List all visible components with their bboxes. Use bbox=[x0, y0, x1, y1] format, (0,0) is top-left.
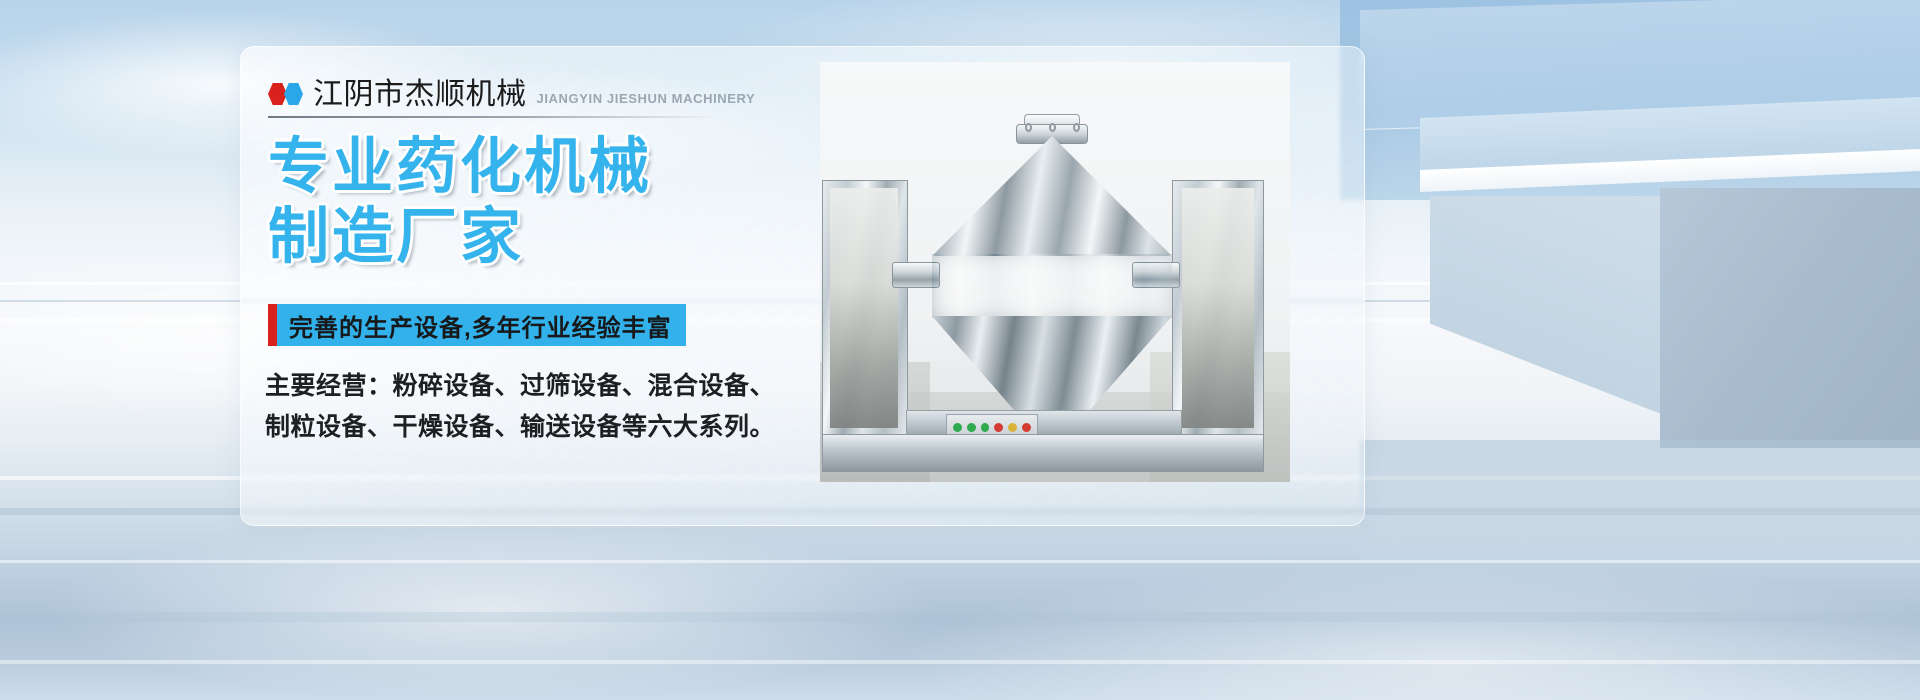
product-photo bbox=[820, 62, 1290, 482]
business-scope-line-1: 主要经营：粉碎设备、过筛设备、混合设备、 bbox=[265, 366, 785, 407]
promotional-banner: 江阴市杰顺机械 JIANGYIN JIESHUN MACHINERY 专业药化机… bbox=[0, 0, 1920, 700]
highlight-bar: 完善的生产设备,多年行业经验丰富 bbox=[268, 304, 686, 346]
business-scope-line-2: 制粒设备、干燥设备、输送设备等六大系列。 bbox=[265, 407, 785, 448]
machine-support-inner-right bbox=[1182, 188, 1254, 428]
logo-divider bbox=[268, 116, 716, 118]
company-logo: 江阴市杰顺机械 JIANGYIN JIESHUN MACHINERY bbox=[268, 70, 738, 110]
headline: 专业药化机械 制造厂家 bbox=[268, 132, 828, 272]
business-scope-text: 主要经营：粉碎设备、过筛设备、混合设备、 制粒设备、干燥设备、输送设备等六大系列… bbox=[265, 366, 785, 447]
status-led-green bbox=[953, 423, 962, 432]
machine-base-beam bbox=[822, 434, 1264, 472]
vessel-reflection bbox=[932, 254, 1172, 318]
status-led-red bbox=[1022, 423, 1031, 432]
status-led-green bbox=[967, 423, 976, 432]
eyebolt-icon bbox=[1073, 123, 1080, 132]
status-led-red bbox=[994, 423, 1003, 432]
headline-line-2: 制造厂家 bbox=[268, 202, 828, 272]
eyebolt-icon bbox=[1049, 123, 1056, 132]
headline-line-1: 专业药化机械 bbox=[268, 132, 828, 202]
company-name-en: JIANGYIN JIESHUN MACHINERY bbox=[537, 91, 756, 106]
eyebolt-icon bbox=[1025, 123, 1032, 132]
hexagon-logo-icon bbox=[268, 83, 303, 105]
status-led-yellow bbox=[1008, 423, 1017, 432]
status-led-green bbox=[981, 423, 990, 432]
highlight-bar-text: 完善的生产设备,多年行业经验丰富 bbox=[289, 308, 672, 343]
upper-cone bbox=[932, 136, 1172, 256]
company-name-cn: 江阴市杰顺机械 bbox=[313, 80, 527, 110]
double-cone-vessel bbox=[932, 110, 1172, 400]
machine-support-inner-left bbox=[830, 188, 898, 428]
blue-hexagon-icon bbox=[284, 83, 303, 105]
